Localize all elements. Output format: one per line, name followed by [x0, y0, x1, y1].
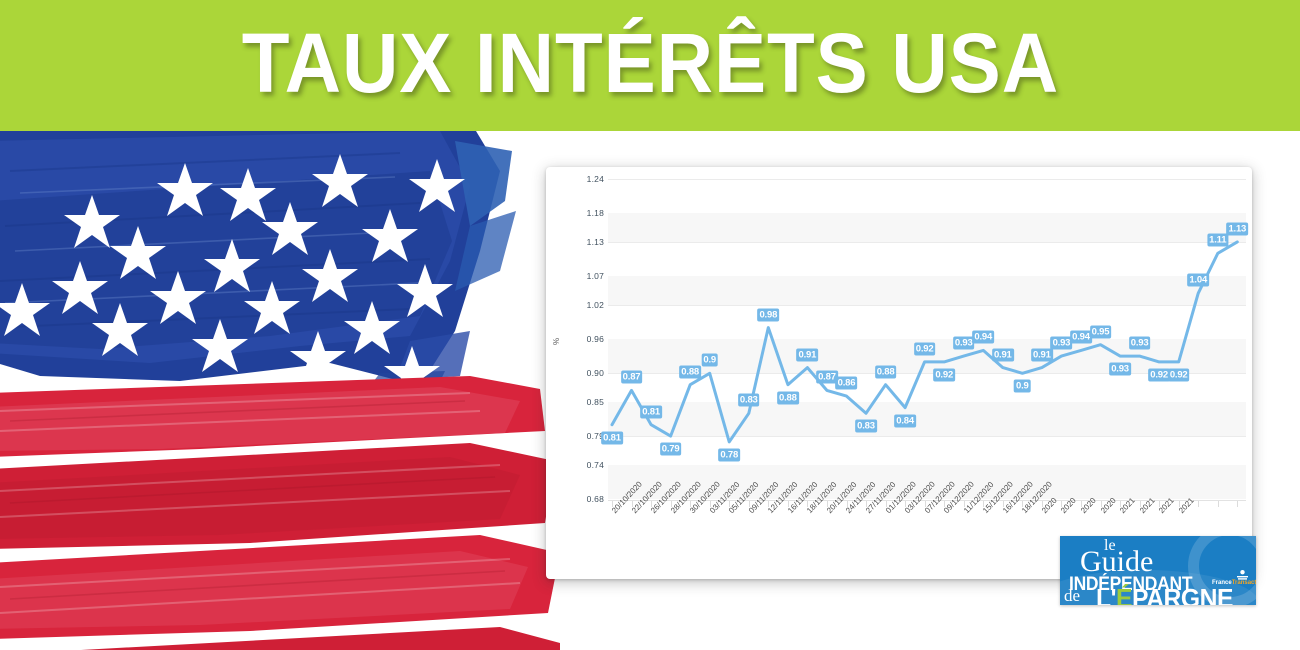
- data-point-label: 0.83: [738, 394, 760, 407]
- logo-text-epargne: L'ÉPARGNE: [1096, 583, 1233, 605]
- y-axis-tick-label: 1.18: [560, 208, 604, 218]
- data-point-label: 1.13: [1226, 222, 1248, 235]
- y-axis-tick-label: 1.02: [560, 300, 604, 310]
- data-point-label: 0.84: [894, 414, 916, 427]
- data-point-label: 0.93: [1051, 337, 1073, 350]
- data-point-label: 0.9: [1014, 380, 1031, 393]
- y-axis-tick-label: 1.13: [560, 237, 604, 247]
- data-point-label: 0.9: [701, 354, 718, 367]
- usa-flag-illustration: [0, 131, 560, 650]
- data-point-label: 0.91: [1031, 348, 1053, 361]
- y-axis-tick-label: 0.79: [560, 431, 604, 441]
- data-point-label: 0.86: [836, 377, 858, 390]
- y-axis-tick-label: 0.96: [560, 334, 604, 344]
- title-banner: TAUX INTÉRÊTS USA: [0, 0, 1300, 131]
- data-point-label: 0.91: [797, 348, 819, 361]
- x-axis-tickmark: [1198, 501, 1199, 507]
- y-axis-tick-label: 0.85: [560, 397, 604, 407]
- x-axis-tickmark: [1237, 501, 1238, 507]
- data-point-label: 0.83: [855, 420, 877, 433]
- data-point-label: 0.94: [1070, 331, 1092, 344]
- data-point-label: 0.88: [679, 365, 701, 378]
- y-axis-tick-label: 1.07: [560, 271, 604, 281]
- data-point-label: 0.81: [601, 431, 623, 444]
- france-transactions-mark-icon: [1236, 570, 1249, 580]
- data-point-label: 0.94: [972, 331, 994, 344]
- logo-text-de: de: [1064, 586, 1080, 605]
- data-point-label: 0.93: [1109, 363, 1131, 376]
- y-axis-tick-label: 0.74: [560, 460, 604, 470]
- epargne-prefix: L': [1096, 583, 1116, 605]
- chart-card: % 0.680.740.790.850.900.961.021.071.131.…: [546, 167, 1252, 579]
- data-point-label: 1.04: [1187, 274, 1209, 287]
- y-axis-tick-label: 0.90: [560, 368, 604, 378]
- epargne-accent: É: [1116, 583, 1132, 605]
- data-point-label: 0.92: [933, 368, 955, 381]
- x-axis-tickmark: [1218, 501, 1219, 507]
- data-point-label: 0.81: [640, 405, 662, 418]
- logo-guide-independant-epargne[interactable]: le Guide INDÉPENDANT FranceTransactions.…: [1060, 536, 1256, 605]
- data-point-label: 0.93: [953, 337, 975, 350]
- y-axis-tick-label: 0.68: [560, 494, 604, 504]
- page-title: TAUX INTÉRÊTS USA: [241, 21, 1058, 111]
- data-point-label: 1.11: [1207, 234, 1228, 247]
- data-point-label: 0.93: [1129, 337, 1151, 350]
- data-point-label: 0.87: [621, 371, 643, 384]
- data-point-label: 0.95: [1090, 325, 1112, 338]
- data-point-label: 0.91: [992, 348, 1014, 361]
- data-point-label: 0.79: [660, 443, 682, 456]
- usa-flag-icon: [0, 131, 560, 650]
- chart-inner: % 0.680.740.790.850.900.961.021.071.131.…: [546, 167, 1252, 579]
- data-point-label: 0.88: [777, 391, 799, 404]
- data-point-label: 0.92: [1148, 368, 1170, 381]
- data-point-label: 0.98: [757, 308, 779, 321]
- brand-part-transactions: Transactions: [1232, 580, 1256, 586]
- data-point-label: 0.78: [718, 448, 740, 461]
- y-axis-tick-label: 1.24: [560, 174, 604, 184]
- data-point-label: 0.87: [816, 371, 838, 384]
- data-point-label: 0.92: [914, 342, 936, 355]
- data-point-label: 0.88: [875, 365, 897, 378]
- epargne-suffix: PARGNE: [1132, 583, 1233, 605]
- data-point-label: 0.92: [1168, 368, 1190, 381]
